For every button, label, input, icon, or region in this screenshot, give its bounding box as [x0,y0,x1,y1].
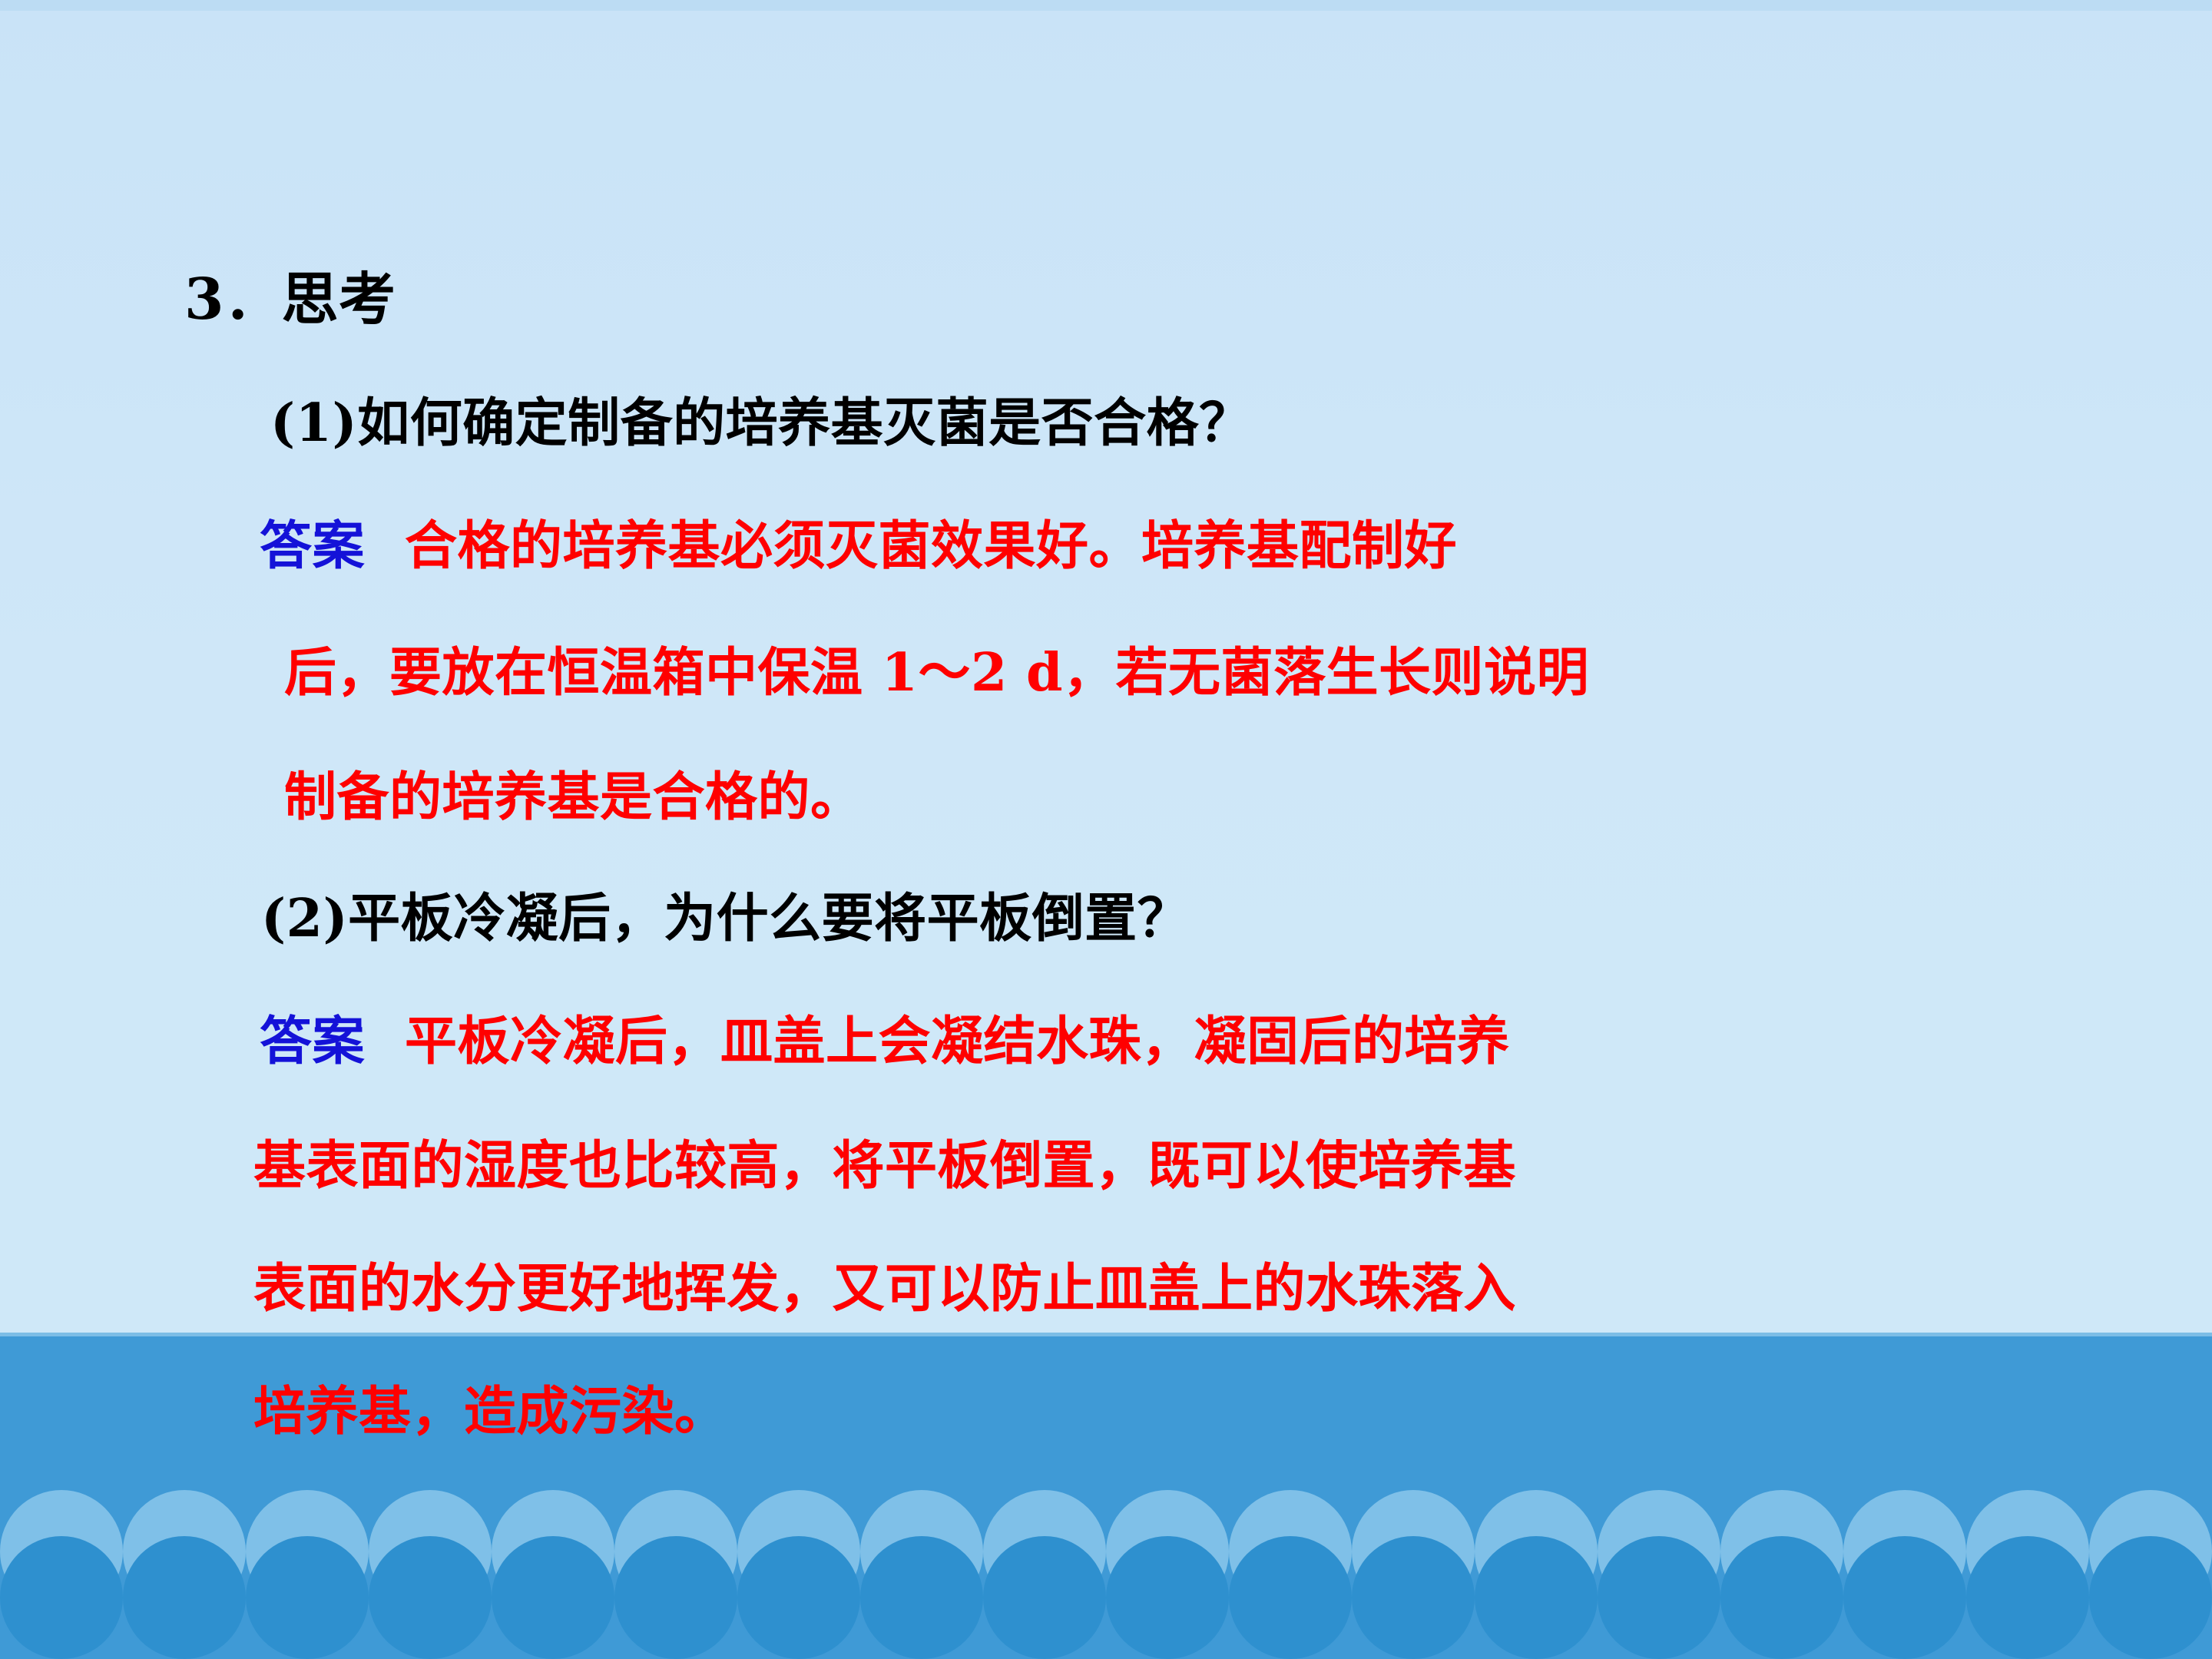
question-1: (1)如何确定制备的培养基灭菌是否合格？ [270,380,1252,456]
answer-2-text-line-1: 平板冷凝后，皿盖上会凝结水珠，凝固后的培养 [405,1011,1510,1072]
answer-label: 答案 [260,1011,365,1072]
answer-2-line-4: 培养基，造成污染。 [253,1369,727,1445]
answer-label: 答案 [260,515,365,577]
answer-2-line-1: 答案平板冷凝后，皿盖上会凝结水珠，凝固后的培养 [260,998,1510,1075]
question-2: (2)平板冷凝后，为什么要将平板倒置？ [261,876,1190,952]
answer-1-text-line-1: 合格的培养基必须灭菌效果好。培养基配制好 [405,515,1457,577]
answer-1-line-2: 后，要放在恒温箱中保温 1～2 d，若无菌落生长则说明 [284,630,1589,706]
answer-2-line-3: 表面的水分更好地挥发，又可以防止皿盖上的水珠落入 [253,1246,1516,1322]
page-title: 3．思考 [184,253,396,336]
answer-2-line-2: 基表面的湿度也比较高，将平板倒置，既可以使培养基 [253,1123,1516,1199]
answer-1-line-3: 制备的培养基是合格的。 [284,754,863,830]
slide-content: 3．思考 (1)如何确定制备的培养基灭菌是否合格？ 答案合格的培养基必须灭菌效果… [0,0,2212,1659]
slide: 3．思考 (1)如何确定制备的培养基灭菌是否合格？ 答案合格的培养基必须灭菌效果… [0,0,2212,1659]
answer-1-line-1: 答案合格的培养基必须灭菌效果好。培养基配制好 [260,503,1457,579]
